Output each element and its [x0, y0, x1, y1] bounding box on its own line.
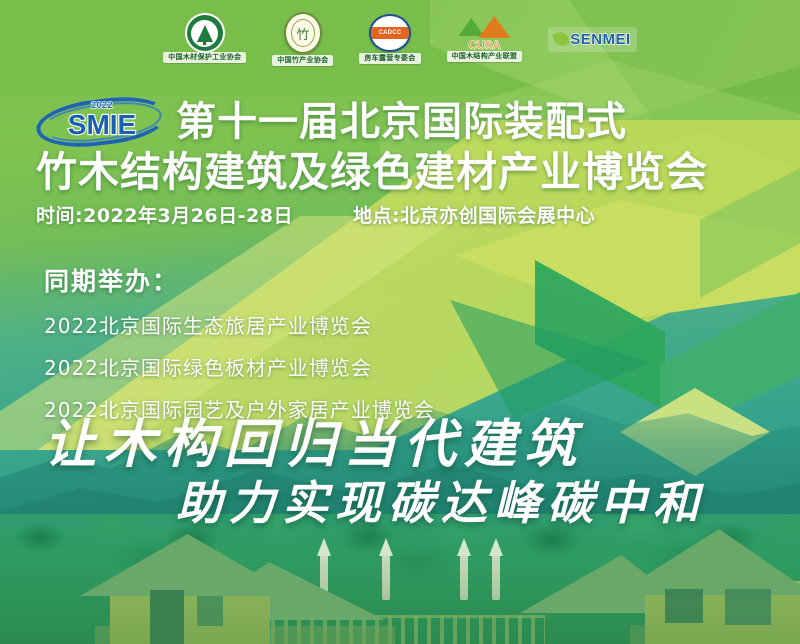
logo-caption: 房车露营专委会: [359, 53, 420, 64]
concurrent-event-item: 2022北京国际绿色板材产业博览会: [44, 352, 564, 381]
exhibition-poster-banner: 中国木材保护工业协会 竹 中国竹产业协会 CADCC 房车露营专委会 CUSA: [0, 0, 800, 644]
logo-cadcc-rv-camping-committee[interactable]: CADCC 房车露营专委会: [359, 14, 420, 64]
event-venue: 地点:北京亦创国际会展中心: [353, 201, 595, 228]
parasol-icon: [460, 546, 468, 600]
slogan-line-1: 让木构回归当代建筑: [0, 418, 800, 473]
slogan-line-2: 助力实现碳达峰碳中和: [0, 479, 800, 527]
logo-senmei[interactable]: SENMEI: [548, 27, 637, 52]
oval-seal-icon: 竹: [284, 12, 322, 54]
forest-cabins-photo: [0, 514, 800, 644]
headline-line-2: 竹木结构建筑及绿色建材产业博览会: [0, 150, 800, 194]
cadcc-oval-icon: CADCC: [369, 14, 411, 52]
cadcc-badge-text: CADCC: [379, 30, 402, 36]
sponsor-logo-row: 中国木材保护工业协会 竹 中国竹产业协会 CADCC 房车露营专委会 CUSA: [0, 8, 800, 70]
logo-caption: 中国木结构产业联盟: [447, 51, 523, 62]
house-roof-icon: CUSA: [452, 16, 516, 50]
senmei-badge-text: SENMEI: [570, 31, 631, 48]
logo-china-timber-protection-association[interactable]: 中国木材保护工业协会: [163, 15, 246, 63]
tree-in-circle-icon: [187, 15, 223, 51]
smie-wordmark: SMIE: [68, 109, 136, 141]
concurrent-event-item: 2022北京国际生态旅居产业博览会: [44, 310, 564, 339]
slogan-block: 让木构回归当代建筑 助力实现碳达峰碳中和: [0, 418, 800, 527]
parasol-icon: [492, 546, 500, 600]
cusa-badge-text: CUSA: [468, 38, 500, 52]
concurrent-events-block: 同期举办： 2022北京国际生态旅居产业博览会 2022北京国际绿色板材产业博览…: [44, 262, 564, 436]
headline-line-1: 第十一届北京国际装配式: [176, 102, 627, 142]
logo-cusa-wooden-structure-alliance[interactable]: CUSA 中国木结构产业联盟: [447, 16, 523, 62]
logo-caption: 中国竹产业协会: [272, 55, 333, 66]
leaf-icon: SENMEI: [548, 27, 637, 52]
logo-caption: 中国木材保护工业协会: [163, 52, 246, 63]
event-meta: 时间:2022年3月26日-28日 地点:北京亦创国际会展中心: [36, 201, 776, 228]
logo-bamboo-association[interactable]: 竹 中国竹产业协会: [272, 12, 333, 66]
headline-block: 2022 SMIE 第十一届北京国际装配式 竹木结构建筑及绿色建材产业博览会: [0, 96, 800, 194]
event-date: 时间:2022年3月26日-28日: [36, 201, 293, 228]
smie-logo[interactable]: 2022 SMIE: [36, 99, 168, 145]
wooden-cabin-right: [520, 529, 800, 644]
concurrent-events-title: 同期举办：: [44, 262, 564, 298]
wooden-cabin-left: [55, 534, 385, 644]
